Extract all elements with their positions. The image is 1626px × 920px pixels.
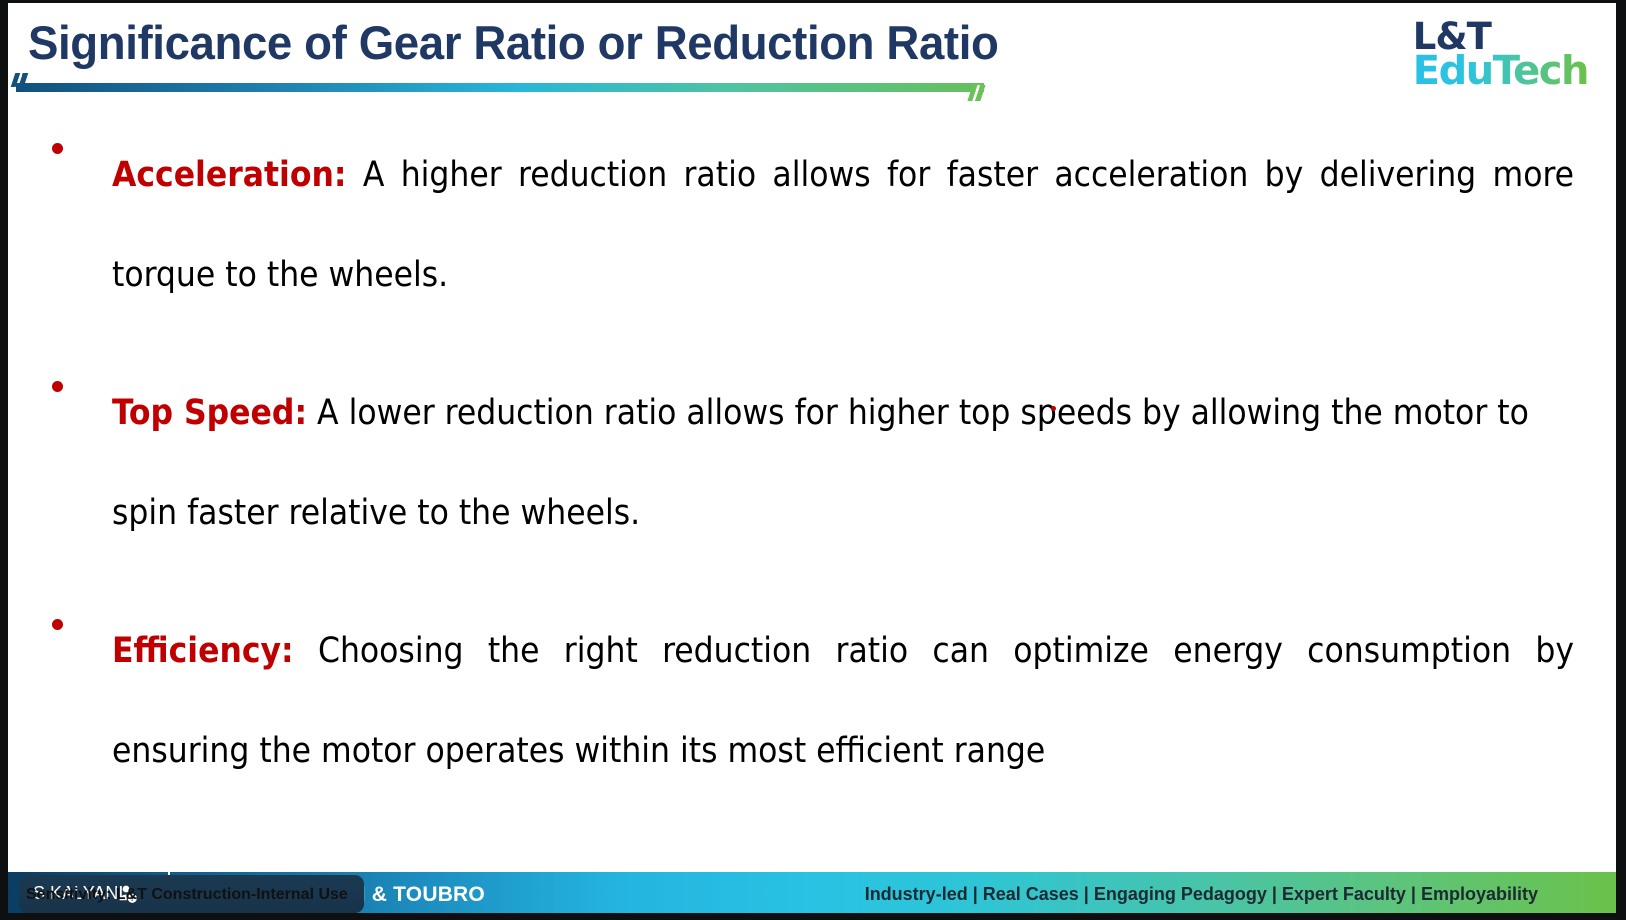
page-title: Significance of Gear Ratio or Reduction …: [28, 15, 998, 70]
bullet-text: Efficiency: Choosing the right reduction…: [112, 601, 1574, 801]
bullet-dot-icon: [52, 143, 63, 154]
bullet-text: Acceleration: A higher reduction ratio a…: [112, 125, 1574, 325]
stray-red-speck: [1051, 406, 1056, 411]
list-item: Efficiency: Choosing the right reduction…: [30, 601, 1590, 801]
presentation-slide: Significance of Gear Ratio or Reduction …: [8, 3, 1616, 913]
crosshair-cursor-icon: [152, 841, 186, 875]
lnt-edutech-logo: L&T EduTech: [1413, 21, 1588, 89]
bullet-dot-icon: [52, 381, 63, 392]
bullet-text: Top Speed: A lower reduction ratio allow…: [112, 363, 1574, 563]
screen-share-frame: Significance of Gear Ratio or Reduction …: [0, 0, 1626, 920]
bullet-lead-label: Top Speed:: [112, 393, 307, 433]
bullet-lead-label: Efficiency:: [112, 631, 294, 671]
slide-body: Acceleration: A higher reduction ratio a…: [30, 125, 1590, 839]
slide-title-block: Significance of Gear Ratio or Reduction …: [8, 5, 1616, 105]
sensitivity-label: Sensitivity: L&T Construction-Internal U…: [26, 886, 348, 904]
bullet-lead-label: Acceleration:: [112, 155, 346, 195]
bullet-dot-icon: [52, 619, 63, 630]
list-item: Top Speed: A lower reduction ratio allow…: [30, 363, 1590, 563]
crosshair-vertical-bar: [168, 841, 170, 875]
list-item: Acceleration: A higher reduction ratio a…: [30, 125, 1590, 325]
bullet-body-text: Choosing the right reduction ratio can o…: [112, 631, 1574, 771]
title-gradient-rule: [16, 83, 984, 92]
footer-tagline-right: Industry-led | Real Cases | Engaging Ped…: [865, 884, 1538, 905]
bullet-body-text: A lower reduction ratio allows for highe…: [112, 393, 1529, 533]
logo-line-edutech: EduTech: [1413, 54, 1588, 89]
